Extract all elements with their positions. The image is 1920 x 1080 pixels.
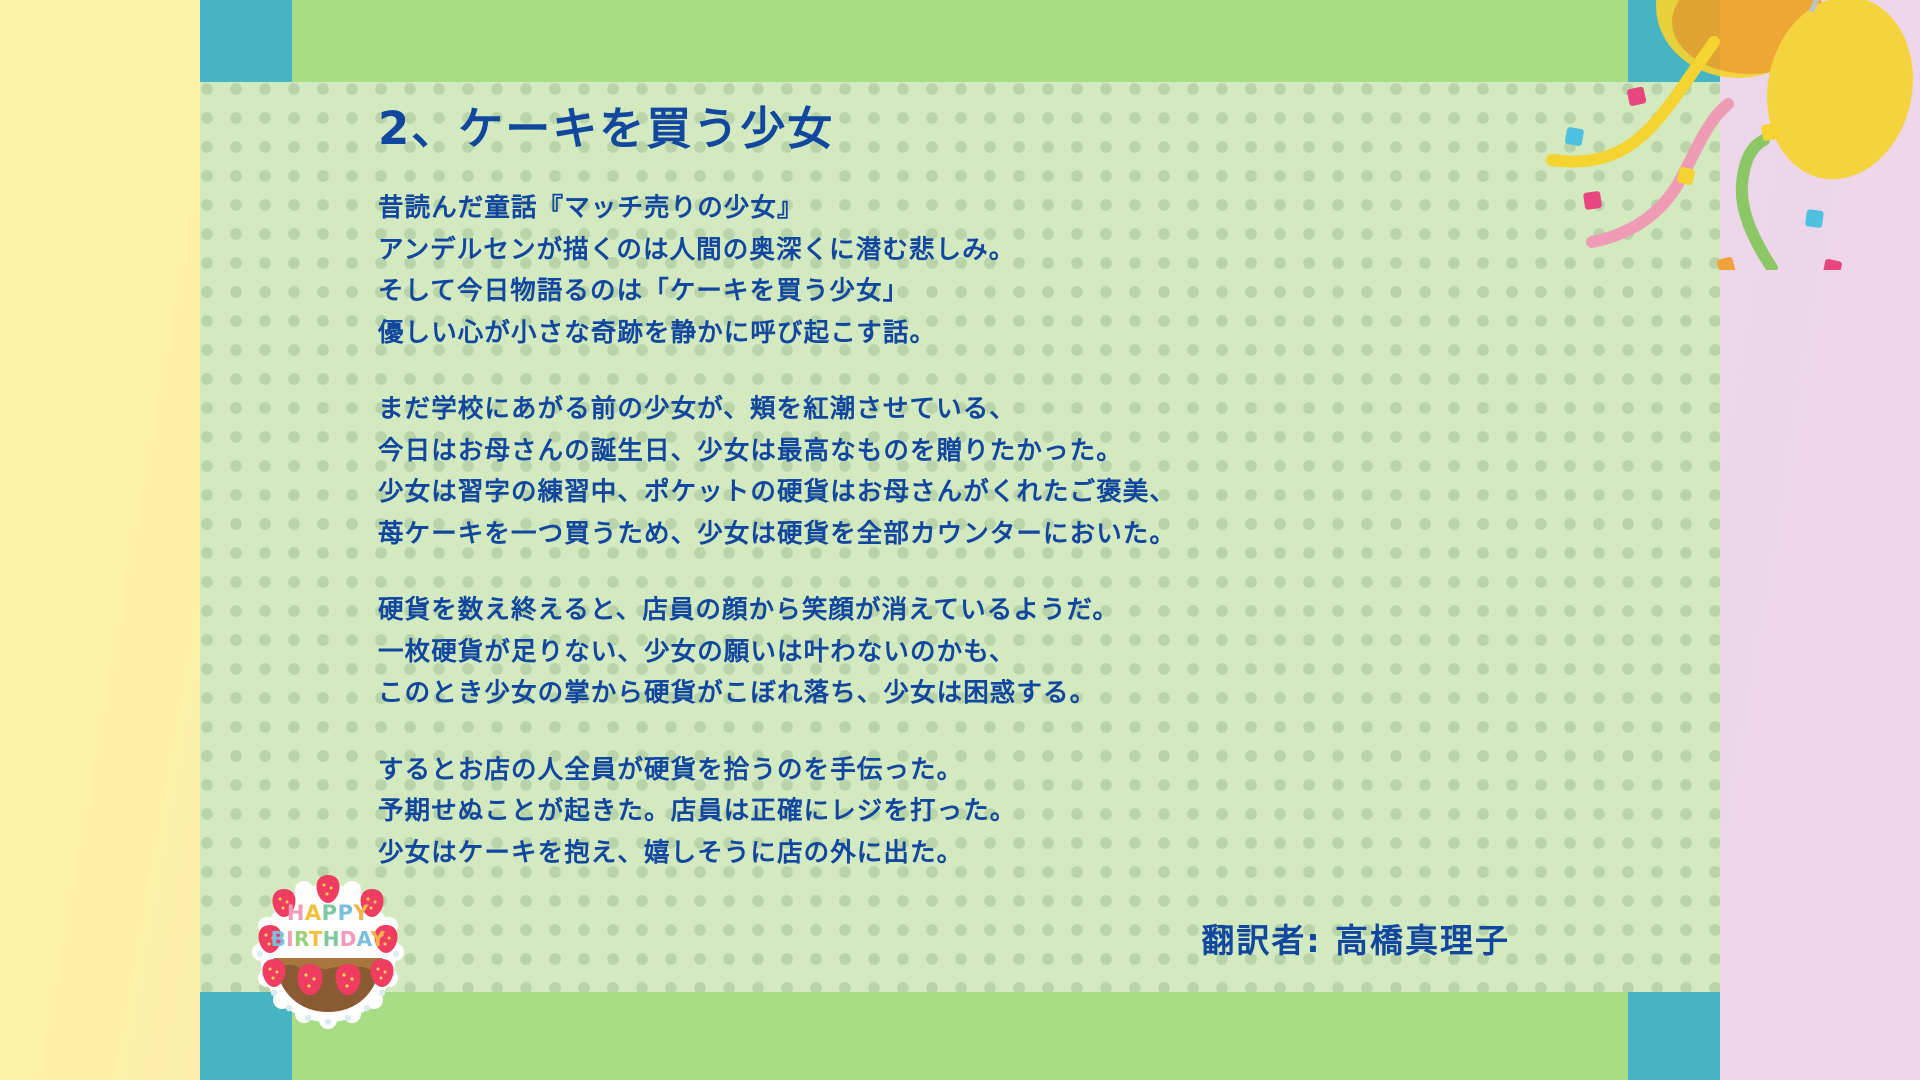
story-body: 昔読んだ童話『マッチ売りの少女』 アンデルセンが描くのは人間の奥深くに潜む悲しみ… <box>378 188 1578 874</box>
corner-accent-bottom-right <box>1628 992 1720 1080</box>
story-line: するとお店の人全員が硬貨を拾うのを手伝った。 <box>378 750 1578 792</box>
story-line: まだ学校にあがる前の少女が、頬を紅潮させている、 <box>378 389 1578 431</box>
story-line: 今日はお母さんの誕生日、少女は最高なものを贈りたかった。 <box>378 431 1578 473</box>
page-title: 2、ケーキを買う少女 <box>378 92 834 157</box>
story-line: 昔読んだ童話『マッチ売りの少女』 <box>378 188 1578 230</box>
story-line: 優しい心が小さな奇跡を静かに呼び起こす話。 <box>378 313 1578 355</box>
paragraph-4: するとお店の人全員が硬貨を拾うのを手伝った。 予期せぬことが起きた。店員は正確に… <box>378 750 1578 875</box>
slide-canvas: HAPPY BIRTHDAY 2、ケーキを買う少女 昔読んだ童話『マッチ売りの少… <box>0 0 1920 1080</box>
corner-accent-bottom-left <box>200 992 292 1080</box>
corner-accent-top-left <box>200 0 292 82</box>
story-line: 苺ケーキを一つ買うため、少女は硬貨を全部カウンターにおいた。 <box>378 514 1578 556</box>
story-line: 少女はケーキを抱え、嬉しそうに店の外に出た。 <box>378 833 1578 875</box>
story-line: 一枚硬貨が足りない、少女の願いは叶わないのかも、 <box>378 632 1578 674</box>
story-line: そして今日物語るのは「ケーキを買う少女」 <box>378 271 1578 313</box>
slide-content: 2、ケーキを買う少女 昔読んだ童話『マッチ売りの少女』 アンデルセンが描くのは人… <box>200 82 1720 992</box>
paragraph-2: まだ学校にあがる前の少女が、頬を紅潮させている、 今日はお母さんの誕生日、少女は… <box>378 389 1578 555</box>
paragraph-3: 硬貨を数え終えると、店員の顔から笑顔が消えているようだ。 一枚硬貨が足りない、少… <box>378 590 1578 715</box>
story-line: 硬貨を数え終えると、店員の顔から笑顔が消えているようだ。 <box>378 590 1578 632</box>
paragraph-1: 昔読んだ童話『マッチ売りの少女』 アンデルセンが描くのは人間の奥深くに潜む悲しみ… <box>378 188 1578 354</box>
story-line: 少女は習字の練習中、ポケットの硬貨はお母さんがくれたご褒美、 <box>378 472 1578 514</box>
story-line: アンデルセンが描くのは人間の奥深くに潜む悲しみ。 <box>378 230 1578 272</box>
story-line: 予期せぬことが起きた。店員は正確にレジを打った。 <box>378 791 1578 833</box>
corner-accent-top-right <box>1628 0 1720 82</box>
translator-credit: 翻訳者: 高橋真理子 <box>1201 914 1510 962</box>
story-line: このとき少女の掌から硬貨がこぼれ落ち、少女は困惑する。 <box>378 673 1578 715</box>
